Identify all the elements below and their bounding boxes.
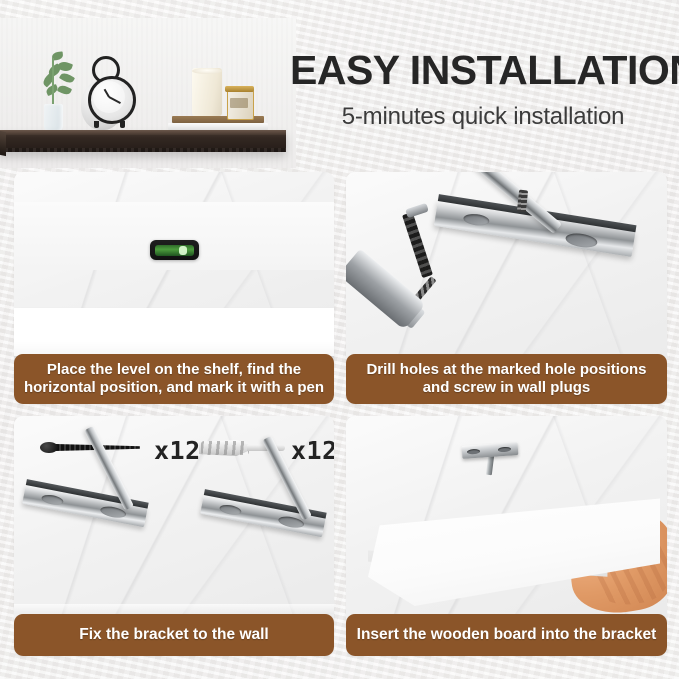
screw-head: [405, 203, 429, 218]
power-drill-icon: [346, 249, 426, 330]
t-bracket: [22, 484, 158, 604]
step-2-caption: Drill holes at the marked hole positions…: [346, 354, 667, 404]
step-1-caption-line-2: horizontal position, and mark it with a …: [24, 379, 324, 397]
bracket-rod: [486, 455, 494, 476]
bracket-slot: [219, 503, 242, 516]
wall-plug-quantity: x12: [291, 436, 334, 465]
screw-quantity: x12: [154, 436, 201, 465]
screw-head: [40, 442, 58, 453]
step-2-caption-line-2: and screw in wall plugs: [366, 379, 646, 397]
wall-mounted-bracket: [462, 444, 518, 474]
wall-plug-ribs: [201, 441, 249, 455]
step-panel-2: Drill holes at the marked hole positions…: [346, 172, 667, 404]
step-3-caption-text: Fix the bracket to the wall: [79, 626, 269, 644]
step-1-caption: Place the level on the shelf, find the h…: [14, 354, 334, 404]
steps-grid: Place the level on the shelf, find the h…: [0, 0, 679, 679]
step-2-caption-line-1: Drill holes at the marked hole positions: [366, 361, 646, 379]
t-bracket: [200, 494, 334, 614]
bracket-slot: [498, 447, 511, 453]
bracket-slot: [41, 493, 64, 506]
step-panel-3: x12 x12 Fix the bracket to the w: [14, 416, 334, 656]
bracket-slot: [467, 449, 480, 455]
step-panel-1: Place the level on the shelf, find the h…: [14, 172, 334, 404]
level-vial: [155, 245, 194, 256]
step-1-caption-line-1: Place the level on the shelf, find the: [24, 361, 324, 379]
wall-baseline: [14, 604, 334, 614]
screw-icon: [402, 212, 433, 278]
step-4-caption-text: Insert the wooden board into the bracket: [357, 626, 657, 644]
bracket-slot: [565, 232, 599, 250]
white-shelf: [14, 308, 334, 356]
level-bubble: [179, 246, 187, 255]
step-3-caption: Fix the bracket to the wall: [14, 614, 334, 656]
bracket-slot: [463, 213, 490, 227]
step-panel-4: Insert the wooden board into the bracket: [346, 416, 667, 656]
step-4-caption: Insert the wooden board into the bracket: [346, 614, 667, 656]
bracket-plate: [462, 442, 519, 459]
bubble-level-icon: [150, 240, 199, 260]
